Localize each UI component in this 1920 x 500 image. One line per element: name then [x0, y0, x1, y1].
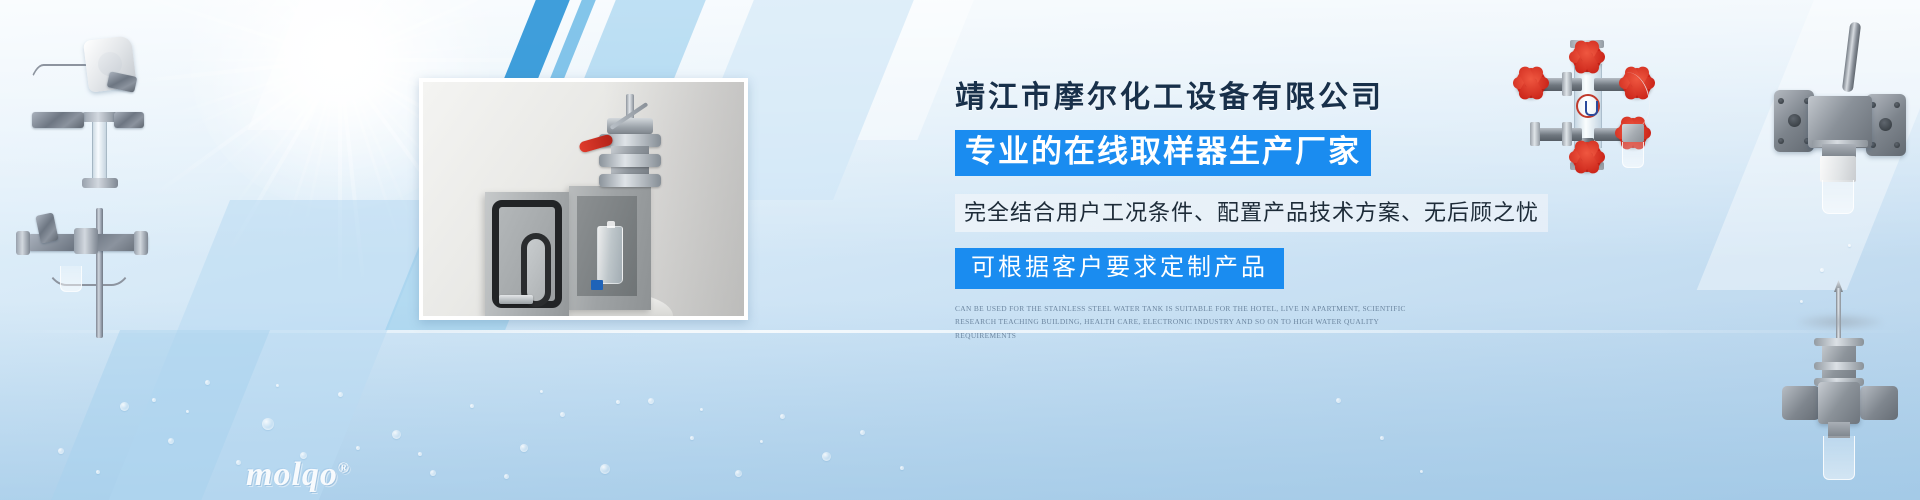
sampler-flange	[1860, 386, 1898, 420]
device-sight-glass	[92, 120, 107, 182]
sun-ray	[299, 60, 341, 246]
water-droplet-icon	[735, 470, 742, 477]
sun-ray	[339, 59, 419, 234]
water-droplet-icon	[600, 464, 610, 474]
sun-ray	[319, 0, 342, 60]
sun-ray	[181, 0, 341, 61]
cross-sample-beaker	[1622, 142, 1644, 168]
headline-highlight: 专业的在线取样器生产厂家	[955, 130, 1371, 176]
water-droplet-icon	[430, 470, 436, 476]
sun-ray	[339, 60, 401, 242]
watermark-text: molqo	[246, 456, 338, 493]
sun-ray	[221, 59, 342, 265]
sun-ray	[339, 0, 342, 60]
water-droplet-icon	[780, 414, 785, 419]
water-droplet-icon	[58, 448, 64, 454]
water-droplet-icon	[96, 470, 100, 474]
water-droplet-icon	[1420, 470, 1423, 473]
water-droplet-icon	[520, 444, 528, 452]
english-caption: CAN BE USED FOR THE STAINLESS STEEL WATE…	[955, 302, 1417, 343]
sun-ray	[339, 0, 437, 61]
water-droplet-icon	[470, 404, 474, 408]
water-droplet-icon	[1336, 398, 1341, 403]
water-droplet-icon	[504, 474, 509, 479]
valve-lever-handle	[1842, 22, 1861, 93]
sun-ray	[338, 60, 367, 294]
promo-banner: 靖江市摩尔化工设备有限公司 专业的在线取样器生产厂家 完全结合用户工况条件、配置…	[0, 0, 1920, 500]
water-droplet-icon	[690, 436, 694, 440]
red-handwheel-icon	[1572, 42, 1602, 72]
sun-ray	[340, 39, 529, 62]
custom-product-highlight: 可根据客户要求定制产品	[955, 248, 1284, 289]
sun-ray	[340, 58, 575, 62]
device-pole	[96, 208, 103, 338]
sun-ray	[339, 0, 494, 61]
photo-sampler-valve	[593, 94, 669, 194]
valve-sample-beaker	[1822, 180, 1854, 214]
needle-sampler-graphic	[1770, 288, 1910, 488]
water-droplet-icon	[276, 384, 279, 387]
banner-text-block: 靖江市摩尔化工设备有限公司 专业的在线取样器生产厂家 完全结合用户工况条件、配置…	[955, 80, 1575, 343]
water-droplet-icon	[616, 400, 620, 404]
water-droplet-icon	[356, 446, 360, 450]
water-droplet-icon	[168, 438, 174, 444]
sun-ray	[338, 60, 342, 295]
company-name: 靖江市摩尔化工设备有限公司	[955, 80, 1575, 116]
sun-ray	[166, 59, 341, 139]
stripe-decoration	[39, 330, 270, 500]
water-droplet-icon	[822, 452, 831, 461]
sun-ray	[175, 0, 341, 61]
sun-ray	[227, 0, 341, 61]
water-droplet-icon	[152, 398, 156, 402]
water-droplet-icon	[860, 430, 865, 435]
sun-ray	[261, 0, 341, 61]
water-droplet-icon	[186, 410, 189, 413]
water-droplet-icon	[648, 398, 654, 404]
water-droplet-icon	[236, 460, 241, 465]
valve-flange	[1866, 94, 1906, 156]
water-droplet-icon	[900, 466, 904, 470]
water-droplet-icon	[1380, 436, 1384, 440]
sun-ray	[340, 0, 522, 61]
sun-ray	[198, 59, 341, 188]
sun-ray	[339, 0, 482, 61]
photo-door-latch	[499, 295, 533, 304]
product-photo	[419, 78, 748, 320]
sun-ray	[339, 0, 401, 60]
flanged-valve-graphic	[1770, 22, 1920, 222]
water-droplet-icon	[1820, 268, 1824, 272]
device-sample-jar	[60, 266, 82, 292]
water-droplet-icon	[560, 412, 565, 417]
sun-ray	[280, 60, 342, 242]
red-handwheel-icon	[1622, 68, 1652, 98]
sampler-sample-jar	[1823, 436, 1855, 480]
water-droplet-icon	[392, 430, 401, 439]
water-droplet-icon	[338, 392, 343, 397]
water-droplet-icon	[418, 452, 422, 456]
water-droplet-icon	[262, 418, 274, 430]
water-droplet-icon	[700, 408, 703, 411]
brand-seal-icon	[1576, 94, 1600, 118]
photo-red-handle	[578, 134, 614, 154]
photo-cabinet-body	[569, 186, 651, 310]
water-droplet-icon	[205, 380, 210, 385]
sun-ray	[185, 0, 340, 61]
photo-cabinet-door	[485, 192, 569, 316]
left-sampler-device-graphic	[8, 28, 188, 318]
sampler-body	[1818, 382, 1860, 424]
water-droplet-icon	[1848, 244, 1851, 247]
red-handwheel-icon	[1572, 142, 1602, 172]
sampler-flange	[1782, 386, 1820, 420]
sun-ray	[338, 0, 391, 60]
sun-ray	[338, 0, 479, 61]
subline-text: 完全结合用户工况条件、配置产品技术方案、无后顾之忧	[955, 194, 1548, 232]
registered-mark-icon: ®	[338, 461, 350, 477]
water-droplet-icon	[120, 402, 129, 411]
sun-ray	[227, 59, 341, 214]
stripe-decoration	[247, 0, 360, 130]
watermark-logo: molqo®	[246, 456, 350, 494]
water-droplet-icon	[760, 440, 763, 443]
sun-ray	[265, 0, 341, 61]
photo-sample-bottle	[597, 226, 623, 284]
sun-ray	[339, 0, 555, 62]
water-droplet-icon	[540, 390, 543, 393]
